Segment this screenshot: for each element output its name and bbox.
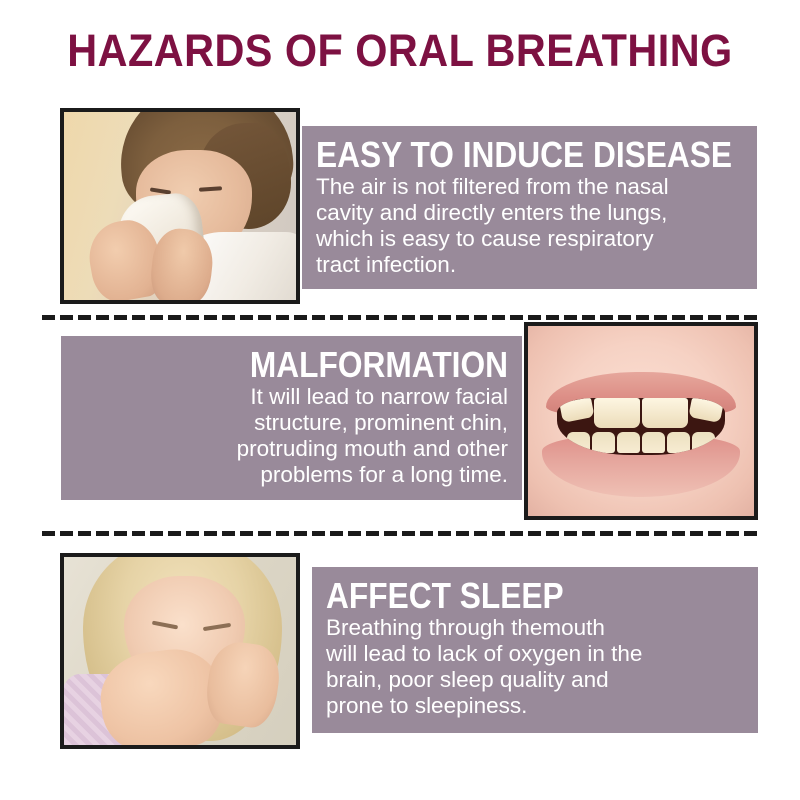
lower-teeth-shape [567, 432, 714, 453]
section-body-text: It will lead to narrow facial structure,… [75, 384, 508, 488]
child-blowing-nose-photo [60, 108, 300, 304]
mouth-opening-shape [557, 398, 724, 455]
page-title: HAZARDS OF ORAL BREATHING [32, 26, 768, 76]
section-heading: MALFORMATION [127, 346, 508, 383]
section-body-text: Breathing through themouth will lead to … [326, 615, 744, 719]
section-heading: AFFECT SLEEP [326, 577, 694, 614]
section-affect-sleep: AFFECT SLEEP Breathing through themouth … [0, 545, 800, 750]
section-easy-to-induce-disease: EASY TO INDUCE DISEASE The air is not fi… [0, 100, 800, 305]
text-panel-affect-sleep: AFFECT SLEEP Breathing through themouth … [312, 567, 758, 733]
upper-teeth-shape [561, 398, 722, 433]
section-body-text: The air is not filtered from the nasal c… [316, 174, 743, 278]
text-panel-easy-to-induce-disease: EASY TO INDUCE DISEASE The air is not fi… [302, 126, 757, 289]
child-crowded-teeth-photo [524, 322, 758, 520]
infographic-poster: HAZARDS OF ORAL BREATHING EASY TO INDUCE… [0, 0, 800, 800]
dashed-divider [42, 531, 758, 536]
section-heading: EASY TO INDUCE DISEASE [316, 136, 692, 173]
text-panel-malformation: MALFORMATION It will lead to narrow faci… [61, 336, 522, 500]
section-malformation: MALFORMATION It will lead to narrow faci… [0, 318, 800, 523]
sleepy-girl-covering-mouth-photo [60, 553, 300, 749]
